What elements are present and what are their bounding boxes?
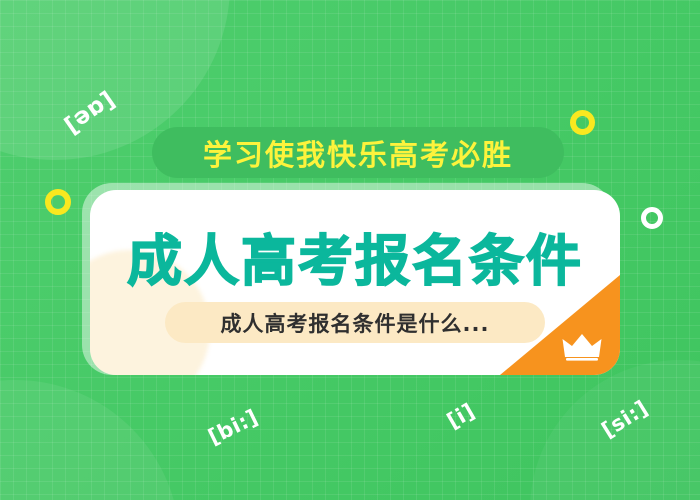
ring-yellow-left xyxy=(45,189,71,215)
subtitle-pill: 成人高考报名条件是什么... xyxy=(165,302,545,343)
top-banner: 学习使我快乐高考必胜 xyxy=(152,127,564,178)
subtitle-text: 成人高考报名条件是什么... xyxy=(221,308,490,338)
crown-icon xyxy=(562,331,602,361)
page-title: 成人高考报名条件 xyxy=(90,216,620,296)
main-card: 成人高考报名条件 成人高考报名条件是什么... xyxy=(90,190,620,375)
ring-white-right xyxy=(641,207,663,229)
top-banner-text: 学习使我快乐高考必胜 xyxy=(203,132,513,174)
poster-canvas: [ɑe] [bi:] [i] [si:] 学习使我快乐高考必胜 成人高考报名条件… xyxy=(0,0,700,500)
ring-yellow-top xyxy=(570,110,595,135)
